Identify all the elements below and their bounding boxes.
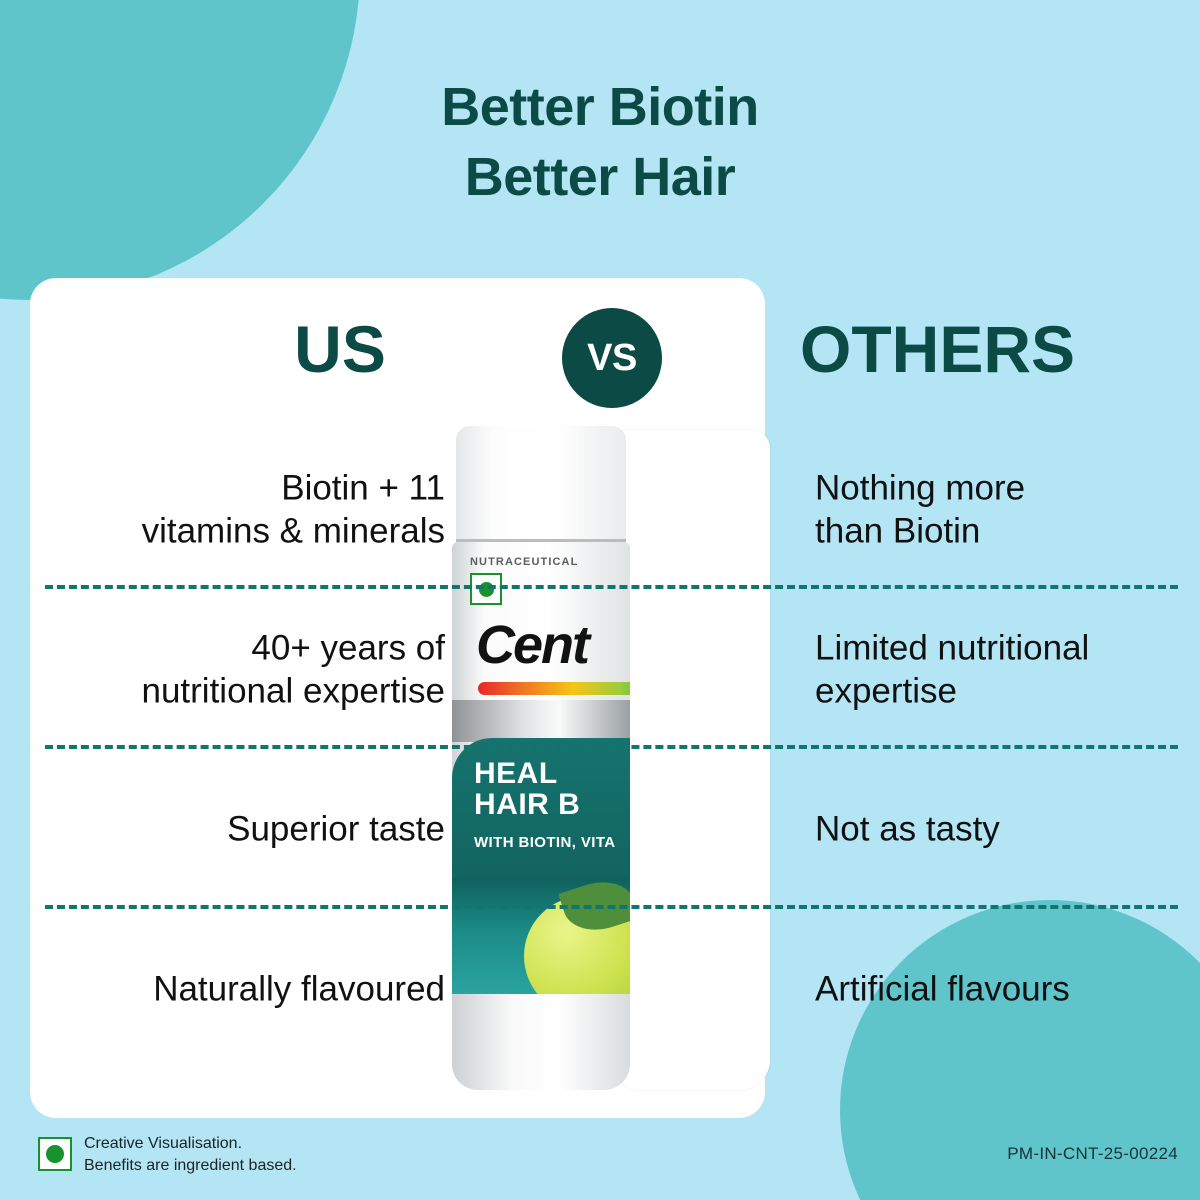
- comparison-row: Naturally flavoured: [45, 910, 445, 1070]
- veg-dot: [479, 582, 494, 597]
- product-category-text: NUTRACEUTICAL: [470, 556, 578, 568]
- us-benefit-text: Superior taste: [45, 809, 445, 852]
- disclaimer-line-2: Benefits are ingredient based.: [84, 1155, 297, 1176]
- comparison-row: Not as tasty: [815, 750, 1185, 910]
- others-drawback-text: Limited nutritional expertise: [815, 627, 1185, 712]
- product-title: HEAL HAIR B: [474, 758, 580, 820]
- footer-disclaimer: Creative Visualisation. Benefits are ing…: [38, 1133, 297, 1176]
- label-top-block: NUTRACEUTICAL: [470, 556, 578, 605]
- silver-band: [452, 700, 630, 742]
- veg-dot: [46, 1145, 64, 1163]
- bottle-cap: [456, 426, 626, 542]
- product-title-line-2: HAIR B: [474, 788, 580, 821]
- branded-bottle: NUTRACEUTICAL Cent HEAL HAIR B WITH BIOT…: [450, 420, 630, 1092]
- comparison-row: Limited nutritional expertise: [815, 590, 1185, 750]
- vegetarian-mark-icon: [38, 1137, 72, 1171]
- disclaimer-line-1: Creative Visualisation.: [84, 1133, 297, 1154]
- infographic-canvas: Better Biotin Better Hair NUTRACEUTICAL …: [0, 0, 1200, 1200]
- others-column-rows: Nothing more than Biotin Limited nutriti…: [815, 430, 1185, 1070]
- page-title-line-2: Better Hair: [0, 142, 1200, 212]
- disclaimer-text: Creative Visualisation. Benefits are ing…: [84, 1133, 297, 1176]
- comparison-row: Biotin + 11 vitamins & minerals: [45, 430, 445, 590]
- page-title: Better Biotin Better Hair: [0, 72, 1200, 212]
- comparison-row: 40+ years of nutritional expertise: [45, 590, 445, 750]
- others-drawback-text: Artificial flavours: [815, 969, 1185, 1012]
- comparison-row: Artificial flavours: [815, 910, 1185, 1070]
- product-title-line-1: HEAL: [474, 757, 558, 790]
- us-column-rows: Biotin + 11 vitamins & minerals 40+ year…: [45, 430, 445, 1070]
- product-bottle-illustration: NUTRACEUTICAL Cent HEAL HAIR B WITH BIOT…: [440, 420, 770, 1100]
- us-benefit-text: Biotin + 11 vitamins & minerals: [45, 467, 445, 552]
- product-subtitle: WITH BIOTIN, VITA: [474, 834, 616, 851]
- vs-badge: VS: [562, 308, 662, 408]
- us-benefit-text: Naturally flavoured: [45, 969, 445, 1012]
- brand-logo-text: Cent: [476, 614, 588, 676]
- others-drawback-text: Nothing more than Biotin: [815, 467, 1185, 552]
- column-header-others: OTHERS: [800, 316, 1200, 382]
- blank-competitor-bottle: [610, 430, 770, 1090]
- us-benefit-text: 40+ years of nutritional expertise: [45, 627, 445, 712]
- product-code: PM-IN-CNT-25-00224: [1007, 1144, 1178, 1164]
- vegetarian-mark-icon: [470, 573, 502, 605]
- label-teal-panel: HEAL HAIR B WITH BIOTIN, VITA 30 GUMMIES…: [452, 738, 630, 994]
- bottle-bottom-rim: [452, 994, 630, 1090]
- column-header-us: US: [200, 316, 480, 382]
- comparison-row: Nothing more than Biotin: [815, 430, 1185, 590]
- bottle-label: NUTRACEUTICAL Cent HEAL HAIR B WITH BIOT…: [452, 542, 630, 1090]
- fruit-splash-art: 30 GUMMIES STRAWBERRY FLAVOUR: [452, 878, 630, 994]
- comparison-row: Superior taste: [45, 750, 445, 910]
- others-drawback-text: Not as tasty: [815, 809, 1185, 852]
- rainbow-bar-icon: [478, 682, 630, 695]
- page-title-line-1: Better Biotin: [0, 72, 1200, 142]
